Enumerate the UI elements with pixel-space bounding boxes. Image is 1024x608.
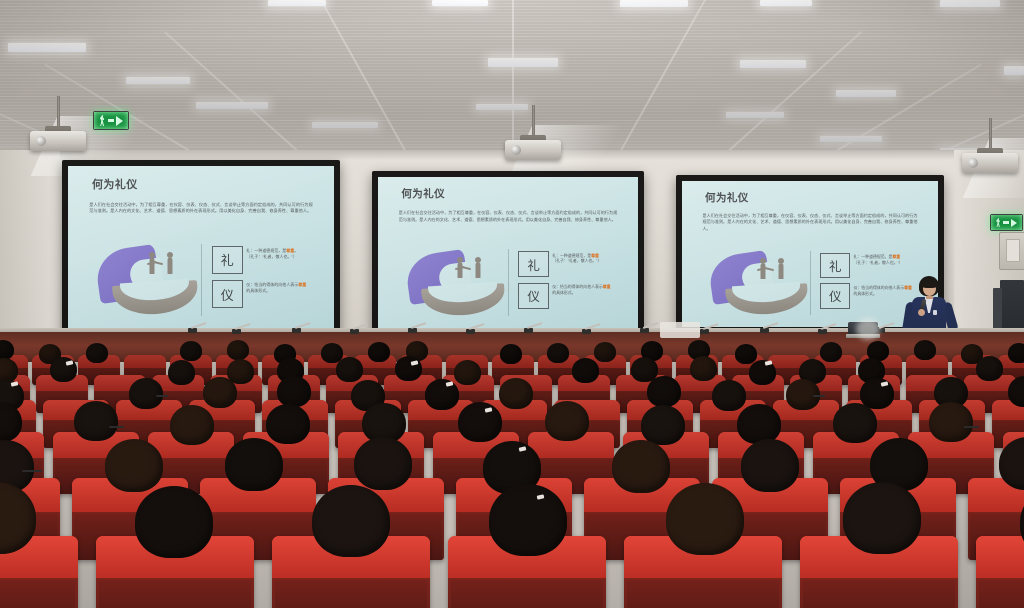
projector-center [505, 105, 561, 160]
microphone-neck [879, 322, 895, 329]
audience-member-head [1008, 343, 1024, 363]
seat-lower-panel [451, 580, 603, 608]
char-note-yi-prefix: 仪：恰当的得体的向他人表示 [552, 284, 603, 289]
audience-member-head [833, 403, 877, 443]
figure-body [476, 263, 481, 278]
microphone-neck [235, 323, 251, 330]
microphone-base [292, 328, 301, 333]
gooseneck-microphone [760, 319, 782, 333]
slide-body-text: 是人们在社会交往活动中，为了相互尊重，在仪容、仪表、仪态、仪式、言谈举止等方面约… [89, 202, 312, 215]
microphone-neck [295, 322, 311, 329]
screen-surface-left: 何为礼仪 是人们在社会交往活动中，为了相互尊重，在仪容、仪表、仪态、仪式、言谈举… [68, 166, 334, 329]
seat-lower-panel [0, 580, 75, 608]
char-note-yi-line2: 的具体形式。 [246, 288, 328, 294]
hair-clip [66, 360, 74, 365]
char-box-li: 礼 [518, 251, 549, 277]
microphone-neck [527, 322, 543, 329]
projector-right [962, 118, 1018, 173]
logo-gray-bowl [725, 283, 809, 316]
microphone-base [524, 328, 533, 333]
projector-lens-center [511, 145, 521, 155]
char-note-li-prefix: 礼：一种道德规范，是 [854, 254, 893, 259]
gooseneck-microphone [640, 319, 662, 333]
audience-member-head [86, 343, 108, 363]
microphone-base [640, 328, 649, 333]
exit-arrow-icon [1011, 219, 1017, 227]
presenter-hand-mic [918, 309, 925, 316]
char-note-yi: 仪：恰当的得体的向他人表示尊重 的具体形式。 [552, 284, 633, 296]
eyeglasses-temple [813, 395, 825, 397]
gooseneck-microphone [408, 319, 430, 333]
seat-lower-panel [803, 580, 955, 608]
audience-member-head [594, 342, 616, 362]
audience-member-head [312, 485, 390, 557]
desk-lamp-glow [856, 318, 880, 340]
hair-clip [881, 381, 889, 386]
screen-surface-right: 何为礼仪 是人们在社会交往活动中，为了相互尊重，在仪容、仪表、仪态、仪式、言谈举… [682, 181, 938, 327]
screen-surface-center: 何为礼仪 是人们在社会交往活动中，为了相互尊重，在仪容、仪表、仪态、仪式、言谈举… [378, 177, 638, 328]
gooseneck-microphone [700, 320, 722, 334]
char-box-li: 礼 [212, 246, 243, 274]
audience-member-head [737, 404, 781, 444]
char-note-li-prefix: 礼：一种道德规范，是 [552, 253, 591, 258]
seat-lower-panel [99, 580, 251, 608]
char-note-yi-prefix: 仪：恰当的得体的向他人表示 [246, 282, 298, 287]
hair-clip [519, 446, 527, 451]
slide-divider [508, 249, 509, 315]
slide-body-text: 是人们在社会交往活动中，为了相互尊重，在仪容、仪表、仪态、仪式、言谈举止等方面约… [399, 210, 617, 223]
microphone-base [232, 329, 241, 334]
char-note-yi-prefix: 仪：恰当的得体的向他人表示 [854, 285, 905, 290]
audience-member-head [820, 342, 842, 362]
slide-right: 何为礼仪 是人们在社会交往活动中，为了相互尊重，在仪容、仪表、仪态、仪式、言谈举… [682, 181, 938, 327]
audience-member-head [180, 341, 202, 361]
gooseneck-microphone [582, 320, 604, 334]
auditorium-seat[interactable] [976, 536, 1024, 608]
microphone-neck [353, 323, 369, 330]
slide-center: 何为礼仪 是人们在社会交往活动中，为了相互尊重，在仪容、仪表、仪态、仪式、言谈举… [378, 177, 638, 328]
char-box-yi: 仪 [212, 280, 243, 308]
char-note-li: 礼：一种道德规范，是尊重。 （孔子：“礼者，敬人也。”） [246, 248, 328, 260]
char-note-li-highlight: 尊重 [591, 253, 599, 258]
figure-right [160, 252, 181, 285]
slide-body-text: 是人们在社会交往活动中，为了相互尊重，在仪容、仪表、仪态、仪式、言谈举止等方面约… [702, 213, 917, 232]
audience-member-head [368, 342, 390, 362]
audience-member-head [500, 344, 522, 364]
logo-gray-bowl [112, 280, 199, 317]
figure-right [468, 257, 489, 287]
microphone-base [818, 329, 827, 334]
figure-right [770, 258, 790, 287]
exit-arrow-tail-icon [1003, 221, 1009, 224]
slide-divider [201, 244, 202, 316]
audience-member-head [647, 376, 681, 407]
audience-member-head [741, 439, 799, 492]
audience-member-head [458, 402, 502, 442]
char-note-li-highlight: 尊重 [892, 254, 900, 259]
char-box-li: 礼 [820, 253, 850, 278]
seat-lower-panel [275, 580, 427, 608]
seat-headrest [976, 536, 1024, 578]
gooseneck-microphone [350, 320, 372, 334]
char-note-yi-highlight: 尊重 [603, 284, 611, 289]
slide-left: 何为礼仪 是人们在社会交往活动中，为了相互尊重，在仪容、仪表、仪态、仪式、言谈举… [68, 166, 334, 329]
gooseneck-microphone [232, 320, 254, 334]
microphone-neck [469, 323, 485, 330]
audience-member-head [735, 344, 757, 364]
audience-member-head [168, 360, 195, 385]
audience-member-head [425, 379, 459, 410]
char-note-li-prefix: 礼：一种道德规范，是 [246, 248, 286, 253]
seat-lower-panel [979, 580, 1024, 608]
exit-arrow-icon [116, 116, 123, 126]
podium-paper [660, 322, 700, 338]
exit-sign-face-right [991, 215, 1022, 230]
microphone-neck [703, 323, 719, 330]
eyeglasses-temple [964, 426, 979, 428]
char-note-li: 礼：一种道德规范，是尊重 （孔子：“礼者，敬人也。”） [854, 254, 933, 266]
projector-lens-right [968, 158, 978, 168]
figure-body [168, 258, 173, 274]
logo-gray-bowl [421, 283, 506, 317]
audience-member-head [105, 439, 163, 492]
presenter-hair-front [920, 279, 939, 288]
microphone-neck [643, 322, 659, 329]
audience-member-head [129, 378, 163, 409]
wall-control-panel[interactable] [999, 232, 1024, 270]
char-note-li-line2: （孔子：“礼者，敬人也。”） [246, 254, 328, 260]
slide-title: 何为礼仪 [705, 190, 749, 205]
audience-member-head [277, 376, 311, 407]
presenter-badge [933, 310, 937, 315]
char-note-yi-highlight: 尊重 [298, 282, 306, 287]
hair-clip [411, 360, 419, 365]
audience-member-head [690, 356, 717, 381]
microphone-base [350, 329, 359, 334]
microphone-neck [191, 322, 207, 329]
microphone-base [408, 328, 417, 333]
audience-member-head [976, 356, 1003, 381]
audience-member-head [354, 437, 412, 490]
projector-pole-left [57, 96, 60, 130]
hair-clip [446, 381, 454, 386]
slide-divider [810, 251, 811, 315]
audience-member-head [843, 482, 921, 554]
gooseneck-microphone [188, 319, 210, 333]
microphone-base [188, 328, 197, 333]
figure-body [778, 264, 783, 279]
eyeglasses-temple [156, 395, 168, 397]
char-note-yi: 仪：恰当的得体的向他人表示尊重 的具体形式。 [246, 282, 328, 294]
char-note-li-suffix: 。 [294, 248, 298, 253]
char-note-li-line2: （孔子：“礼者，敬人也。”） [854, 260, 933, 266]
eyeglasses-temple [109, 426, 124, 428]
microphone-base [700, 329, 709, 334]
audience-member-head [135, 486, 213, 558]
projection-screen-right[interactable]: 何为礼仪 是人们在社会交往活动中，为了相互尊重，在仪容、仪表、仪态、仪式、言谈举… [676, 175, 944, 333]
exit-sign-left [93, 111, 129, 130]
projection-screen-left[interactable]: 何为礼仪 是人们在社会交往活动中，为了相互尊重，在仪容、仪表、仪态、仪式、言谈举… [62, 160, 340, 335]
microphone-neck [585, 323, 601, 330]
audience-member-head [929, 402, 973, 442]
char-note-li: 礼：一种道德规范，是尊重 （孔子：“礼者，敬人也。”） [552, 253, 633, 265]
gooseneck-microphone [524, 319, 546, 333]
audience-member-head [666, 483, 744, 555]
audience-member-head [641, 405, 685, 445]
projector-pole-right [989, 118, 992, 152]
seat-lower-panel [627, 580, 779, 608]
char-note-yi-line2: 的具体形式。 [552, 290, 633, 296]
running-person-icon [996, 218, 1001, 227]
exit-arrow-tail-icon [108, 119, 114, 122]
char-note-li-line2: （孔子：“礼者，敬人也。”） [552, 258, 633, 264]
char-box-yi: 仪 [518, 283, 549, 309]
audience-member-head [914, 340, 936, 360]
audience-member-head [170, 405, 214, 445]
microphone-neck [763, 322, 779, 329]
audience-member-head [225, 438, 283, 491]
audience-member-head [499, 378, 533, 409]
exit-sign-face-left [94, 112, 128, 129]
gooseneck-microphone [292, 319, 314, 333]
projector-left [30, 96, 86, 151]
audience-member-head [266, 404, 310, 444]
audience-member-head [712, 380, 746, 411]
gooseneck-microphone [818, 320, 840, 334]
running-person-icon [100, 115, 106, 126]
projector-pole-center [532, 105, 535, 139]
microphone-base [582, 329, 591, 334]
slide-title: 何为礼仪 [92, 176, 138, 192]
audience-member-head [545, 401, 589, 441]
audience-member-head [74, 401, 118, 441]
gooseneck-microphone [466, 320, 488, 334]
projection-screen-center[interactable]: 何为礼仪 是人们在社会交往活动中，为了相互尊重，在仪容、仪表、仪态、仪式、言谈举… [372, 171, 644, 334]
audience-member-head [489, 484, 567, 556]
exit-sign-right [990, 214, 1023, 231]
lecture-hall-screenshot: 何为礼仪 是人们在社会交往活动中，为了相互尊重，在仪容、仪表、仪态、仪式、言谈举… [0, 0, 1024, 608]
char-box-yi: 仪 [820, 283, 850, 308]
eyeglasses-temple [22, 470, 42, 472]
microphone-base [466, 329, 475, 334]
projector-lens-left [36, 136, 46, 146]
audience-member-head [454, 360, 481, 385]
hair-clip [765, 360, 773, 365]
slide-title: 何为礼仪 [401, 186, 445, 201]
audience-member-head [203, 377, 237, 408]
hair-clip [11, 381, 19, 386]
audience-member-head [547, 343, 569, 363]
audience-member-head [572, 358, 599, 383]
microphone-base [760, 328, 769, 333]
microphone-neck [411, 322, 427, 329]
audience-member-head [612, 440, 670, 493]
audience-member-head [227, 340, 249, 360]
audience-member-head [336, 357, 363, 382]
microphone-neck [821, 323, 837, 330]
